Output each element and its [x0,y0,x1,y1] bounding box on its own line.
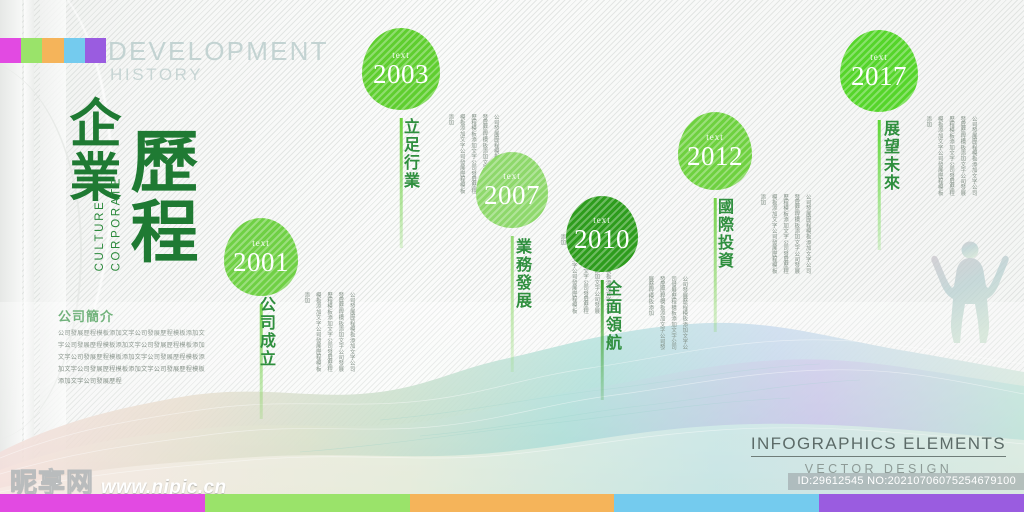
timeline-year: 2007 [484,182,540,209]
footer-color-bar [0,494,1024,512]
timeline-node-2012[interactable]: text 2012 [678,112,752,190]
timeline-text-tag: text [392,51,410,60]
timeline-node-2010[interactable]: text 2010 [566,196,638,272]
color-bar-segment-1 [0,38,21,63]
poster-canvas: DEVELOPMENT HISTORY 企業 歷程 CULTURE CORPOR… [0,0,1024,512]
decorative-color-bar [0,38,106,63]
footer-bar-segment-1 [0,494,205,512]
timeline-bubble-2003[interactable]: text 2003 [362,28,440,110]
timeline-text-tag: text [593,216,611,225]
footer-bar-segment-5 [819,494,1024,512]
timeline-text-tag: text [706,133,724,142]
color-bar-segment-3 [42,38,63,63]
timeline-label-2003: 立足行業 [400,118,420,190]
timeline-node-2003[interactable]: text 2003 [362,28,440,110]
timeline-year: 2001 [233,249,289,276]
timeline-label-2007: 業務發展 [512,238,532,310]
timeline-body-2012: 公司發展歷程模板添加文字公司發展歷程模板添加文字公司發展歷程模板添加文字公司發展… [756,194,813,278]
timeline-body-2017: 公司發展歷程模板添加文字公司發展歷程模板添加文字公司發展歷程模板添加文字公司發展… [922,116,979,200]
asset-id-strip: ID:29612545 NO:20210706075254679100 [788,473,1024,490]
color-bar-segment-2 [21,38,42,63]
timeline-year: 2017 [851,63,907,90]
timeline-text-tag: text [503,172,521,181]
headline-cjk-secondary: 歷程 [118,126,192,266]
footer-bar-segment-3 [410,494,615,512]
timeline-bubble-2007[interactable]: text 2007 [476,152,548,228]
color-bar-segment-5 [85,38,106,63]
timeline-node-2017[interactable]: text 2017 [840,30,918,112]
footer-bar-segment-2 [205,494,410,512]
page-title: DEVELOPMENT [108,38,329,64]
headline-en-vertical: CULTURE CORPORATE [92,176,125,271]
timeline-year: 2012 [687,143,743,170]
page-subtitle: HISTORY [110,66,203,83]
timeline-bubble-2012[interactable]: text 2012 [678,112,752,190]
branding-title: INFOGRAPHICS ELEMENTS [751,434,1006,457]
watermark-site-name: 昵享网 [10,470,94,497]
company-profile-heading: 公司簡介 [58,306,114,325]
timeline-node-2007[interactable]: text 2007 [476,152,548,228]
watermark: 昵享网 www.nipic.cn [10,470,227,497]
timeline-body-2001: 公司發展歷程模板添加文字公司發展歷程模板添加文字公司發展歷程模板添加文字公司發展… [300,292,357,374]
headline-en-line-1: CULTURE [92,176,109,271]
timeline-node-2001[interactable]: text 2001 [224,218,298,296]
timeline-label-2012: 國際投資 [714,198,734,270]
headline-en-line-2: CORPORATE [109,176,126,271]
timeline-bubble-2010[interactable]: text 2010 [566,196,638,272]
timeline-body-2010: 公司發展歷程模板添加文字公司發展歷程模板添加文字公司發展歷程模板添加文字公司發展… [644,276,689,352]
timeline-text-tag: text [870,53,888,62]
company-profile-body: 公司發展歷程模板添加文字公司發展歷程模板添加文字公司發展歷程模板添加文字公司發展… [58,328,210,388]
timeline-bubble-2017[interactable]: text 2017 [840,30,918,112]
timeline-bubble-2001[interactable]: text 2001 [224,218,298,296]
timeline-text-tag: text [252,239,270,248]
person-silhouette-icon [928,226,1012,348]
footer-bar-segment-4 [614,494,819,512]
timeline-label-2001: 公司成立 [256,296,276,368]
color-bar-segment-4 [64,38,85,63]
timeline-label-2010: 全面領航 [602,280,622,352]
timeline-label-2017: 展望未來 [880,120,900,192]
timeline-year: 2003 [373,61,429,88]
timeline-year: 2010 [574,226,630,253]
branding-block: INFOGRAPHICS ELEMENTS VECTOR DESIGN [751,434,1006,476]
